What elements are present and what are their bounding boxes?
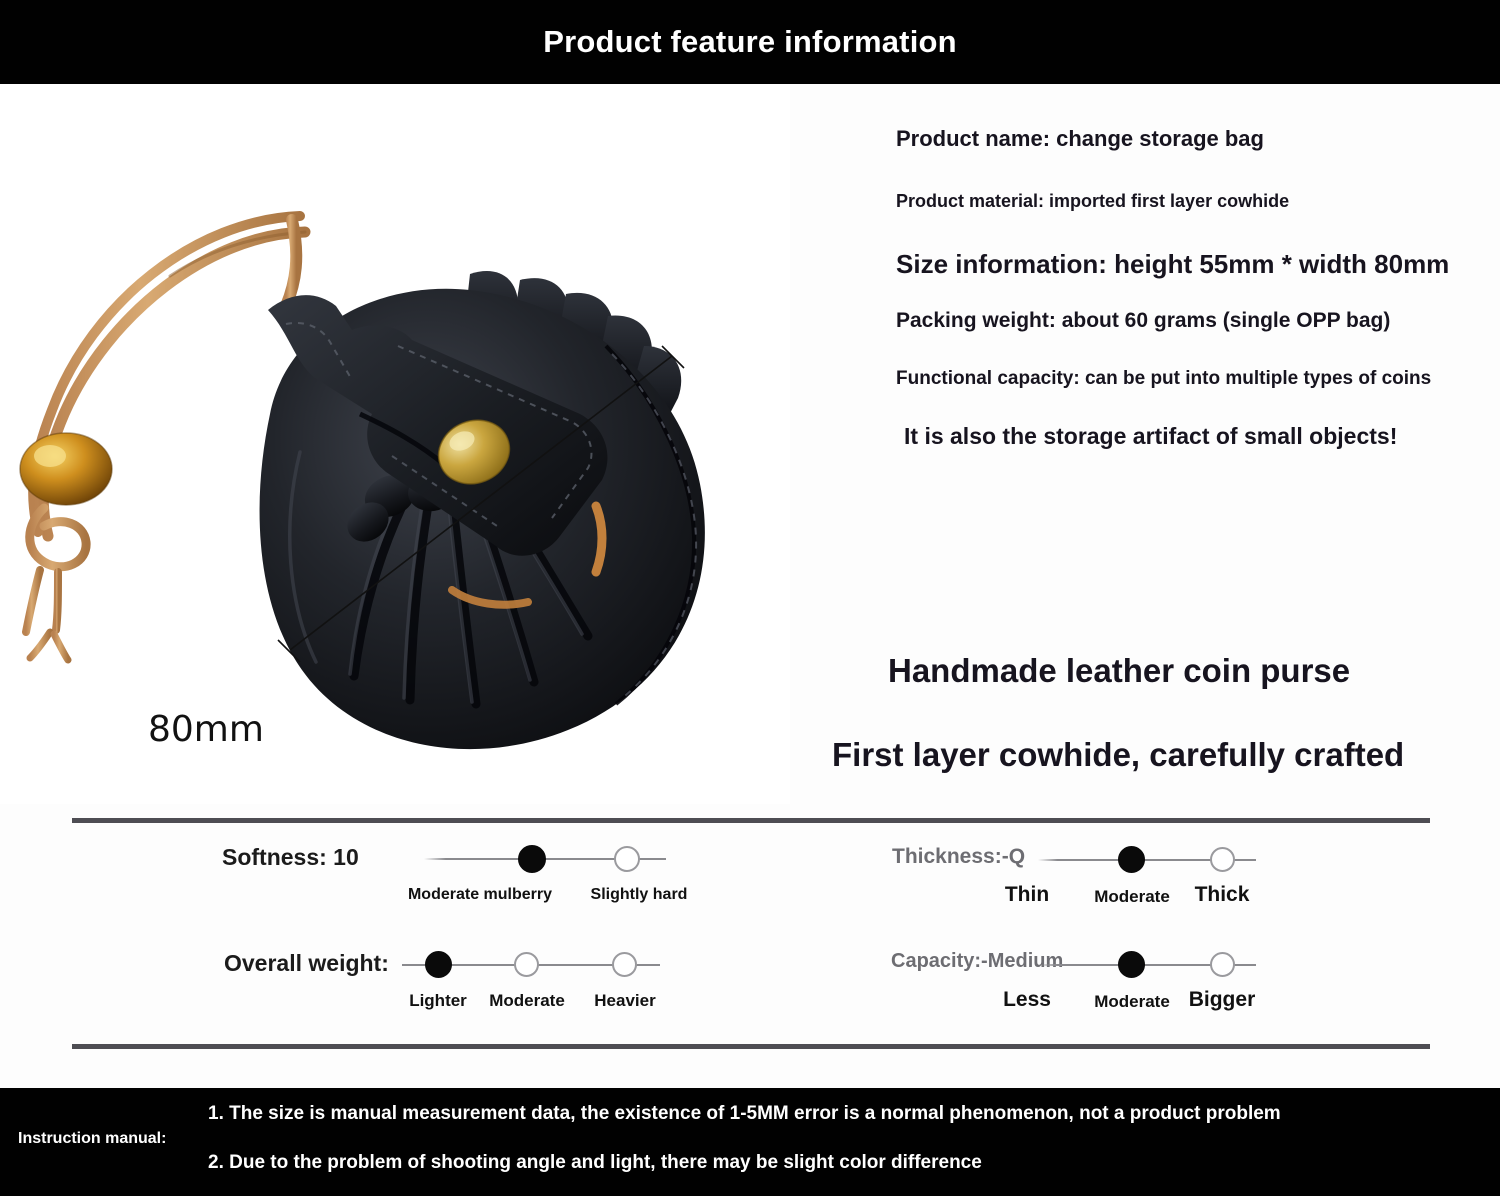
rating-thickness-tick-1: Thin [967, 883, 1087, 907]
spec-product-material: Product material: imported first layer c… [896, 191, 1289, 212]
rating-slider-group: Softness: 10 Moderate mulberry Slightly … [0, 826, 1500, 1042]
rating-softness-dot-3[interactable] [614, 846, 640, 872]
rating-capacity-dot-3[interactable] [1210, 952, 1235, 977]
divider-bottom [72, 1044, 1430, 1049]
rating-thickness-tick-3: Thick [1162, 883, 1282, 907]
rating-overall-weight: Overall weight: Lighter Moderate Heavier [0, 931, 750, 1036]
spec-size-information: Size information: height 55mm * width 80… [896, 249, 1449, 280]
footer-instruction-manual-label: Instruction manual: [18, 1130, 166, 1148]
page-header: Product feature information [0, 0, 1500, 84]
divider-top [72, 818, 1430, 823]
rating-thickness-dot-3[interactable] [1210, 847, 1235, 872]
rating-overall-weight-dot-1[interactable] [425, 951, 452, 978]
rating-softness-tick-2: Moderate mulberry [380, 886, 580, 904]
rating-capacity: Capacity:-Medium Less Moderate Bigger [750, 931, 1500, 1036]
rating-overall-weight-label: Overall weight: [224, 950, 389, 977]
coin-purse-illustration [0, 84, 790, 804]
rating-capacity-label: Capacity:-Medium [891, 950, 1063, 973]
page-title: Product feature information [543, 24, 957, 60]
rating-thickness-label: Thickness:-Q [892, 845, 1025, 869]
rating-thickness-dot-2[interactable] [1118, 846, 1145, 873]
rating-capacity-tick-3: Bigger [1162, 988, 1282, 1012]
spec-functional-capacity: Functional capacity: can be put into mul… [896, 368, 1431, 390]
rating-thickness: Thickness:-Q Thin Moderate Thick [750, 826, 1500, 926]
spec-storage-artifact: It is also the storage artifact of small… [904, 423, 1397, 450]
rating-softness-label: Softness: 10 [222, 844, 359, 871]
rating-softness: Softness: 10 Moderate mulberry Slightly … [0, 826, 750, 926]
wooden-bead [20, 433, 112, 505]
rating-capacity-tick-1: Less [967, 988, 1087, 1012]
dimension-label: 80mm [148, 709, 264, 750]
rating-overall-weight-dot-2[interactable] [514, 952, 539, 977]
rating-softness-dot-2[interactable] [518, 845, 546, 873]
tagline-cowhide: First layer cowhide, carefully crafted [832, 736, 1404, 774]
tagline-handmade: Handmade leather coin purse [888, 652, 1350, 690]
spec-packing-weight: Packing weight: about 60 grams (single O… [896, 309, 1390, 333]
rating-capacity-dot-2[interactable] [1118, 951, 1145, 978]
footer-note-1: 1. The size is manual measurement data, … [208, 1103, 1281, 1125]
rating-overall-weight-tick-3: Heavier [565, 991, 685, 1011]
rating-overall-weight-dot-3[interactable] [612, 952, 637, 977]
footer-note-2: 2. Due to the problem of shooting angle … [208, 1152, 982, 1174]
product-feature-page: Product feature information [0, 0, 1500, 1196]
rating-softness-tick-3: Slightly hard [559, 886, 719, 904]
spec-product-name: Product name: change storage bag [896, 126, 1264, 152]
product-photo: 80mm [0, 84, 790, 804]
